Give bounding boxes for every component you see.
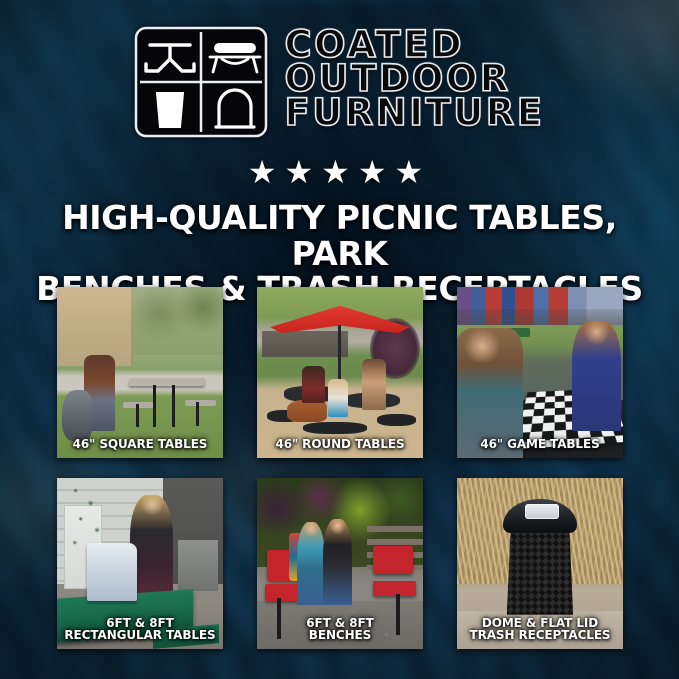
product-poster: COATED OUTDOOR FURNITURE ★★★★★ HIGH-QUAL… (0, 0, 679, 679)
product-tile-square-tables[interactable]: 46" SQUARE TABLES (57, 287, 223, 458)
caption-line-1: 46" ROUND TABLES (259, 438, 421, 451)
lid-opening (525, 504, 559, 520)
house-background (262, 331, 348, 357)
table-top (129, 378, 206, 386)
person-figure (362, 359, 387, 410)
bench-backrest (373, 546, 413, 573)
product-caption: 46" ROUND TABLES (259, 438, 421, 451)
product-caption: DOME & FLAT LID TRASH RECEPTACLES (459, 617, 621, 642)
product-tile-benches[interactable]: 6FT & 8FT BENCHES (257, 478, 423, 649)
product-tile-game-tables[interactable]: 46" GAME TABLES (457, 287, 623, 458)
trash-receptacle-icon (157, 93, 183, 127)
round-bench (303, 422, 366, 434)
product-tile-round-tables[interactable]: 46" ROUND TABLES (257, 287, 423, 458)
caption-line-2: TRASH RECEPTACLES (459, 629, 621, 642)
bench-leg (136, 404, 139, 427)
caption-line-2: RECTANGULAR TABLES (59, 629, 221, 642)
table-leg (172, 385, 175, 427)
person-figure (302, 366, 325, 404)
child-figure (323, 519, 351, 605)
bench-leg (196, 402, 199, 426)
caption-line-1: 46" SQUARE TABLES (59, 438, 221, 451)
caption-line-2: BENCHES (259, 629, 421, 642)
product-caption: 6FT & 8FT RECTANGULAR TABLES (59, 617, 221, 642)
product-grid: 46" SQUARE TABLES (57, 287, 623, 649)
product-caption: 46" GAME TABLES (459, 438, 621, 451)
brand-line-3: FURNITURE (284, 96, 544, 130)
star-rating: ★★★★★ (0, 156, 679, 188)
caption-line-1: 46" GAME TABLES (459, 438, 621, 451)
square-table-graphic (123, 378, 216, 429)
dog-figure (62, 390, 92, 441)
child-figure (328, 379, 348, 417)
dog-figure (287, 400, 327, 422)
table-leg (153, 385, 156, 427)
brand-wordmark: COATED OUTDOOR FURNITURE (284, 26, 544, 130)
receptacle-body (507, 526, 573, 615)
brand-logo: COATED OUTDOOR FURNITURE (0, 26, 679, 138)
product-tile-trash-receptacles[interactable]: DOME & FLAT LID TRASH RECEPTACLES (457, 478, 623, 649)
boy-figure (572, 321, 622, 430)
round-bench (377, 414, 417, 426)
ac-unit (178, 540, 218, 591)
logo-mark-icon (134, 26, 268, 138)
poster-content: COATED OUTDOOR FURNITURE ★★★★★ HIGH-QUAL… (0, 0, 679, 679)
game-tables-photo (457, 287, 623, 458)
bench-right (185, 400, 217, 406)
headline-line-1: HIGH-QUALITY PICNIC TABLES, PARK (62, 198, 617, 273)
product-tile-rectangular-tables[interactable]: 6FT & 8FT RECTANGULAR TABLES (57, 478, 223, 649)
child-figure (297, 522, 325, 604)
round-tables-photo (257, 287, 423, 458)
product-caption: 46" SQUARE TABLES (59, 438, 221, 451)
product-caption: 6FT & 8FT BENCHES (259, 617, 421, 642)
shopping-bag (87, 543, 137, 601)
event-tents-background (457, 287, 623, 325)
square-tables-photo (57, 287, 223, 458)
